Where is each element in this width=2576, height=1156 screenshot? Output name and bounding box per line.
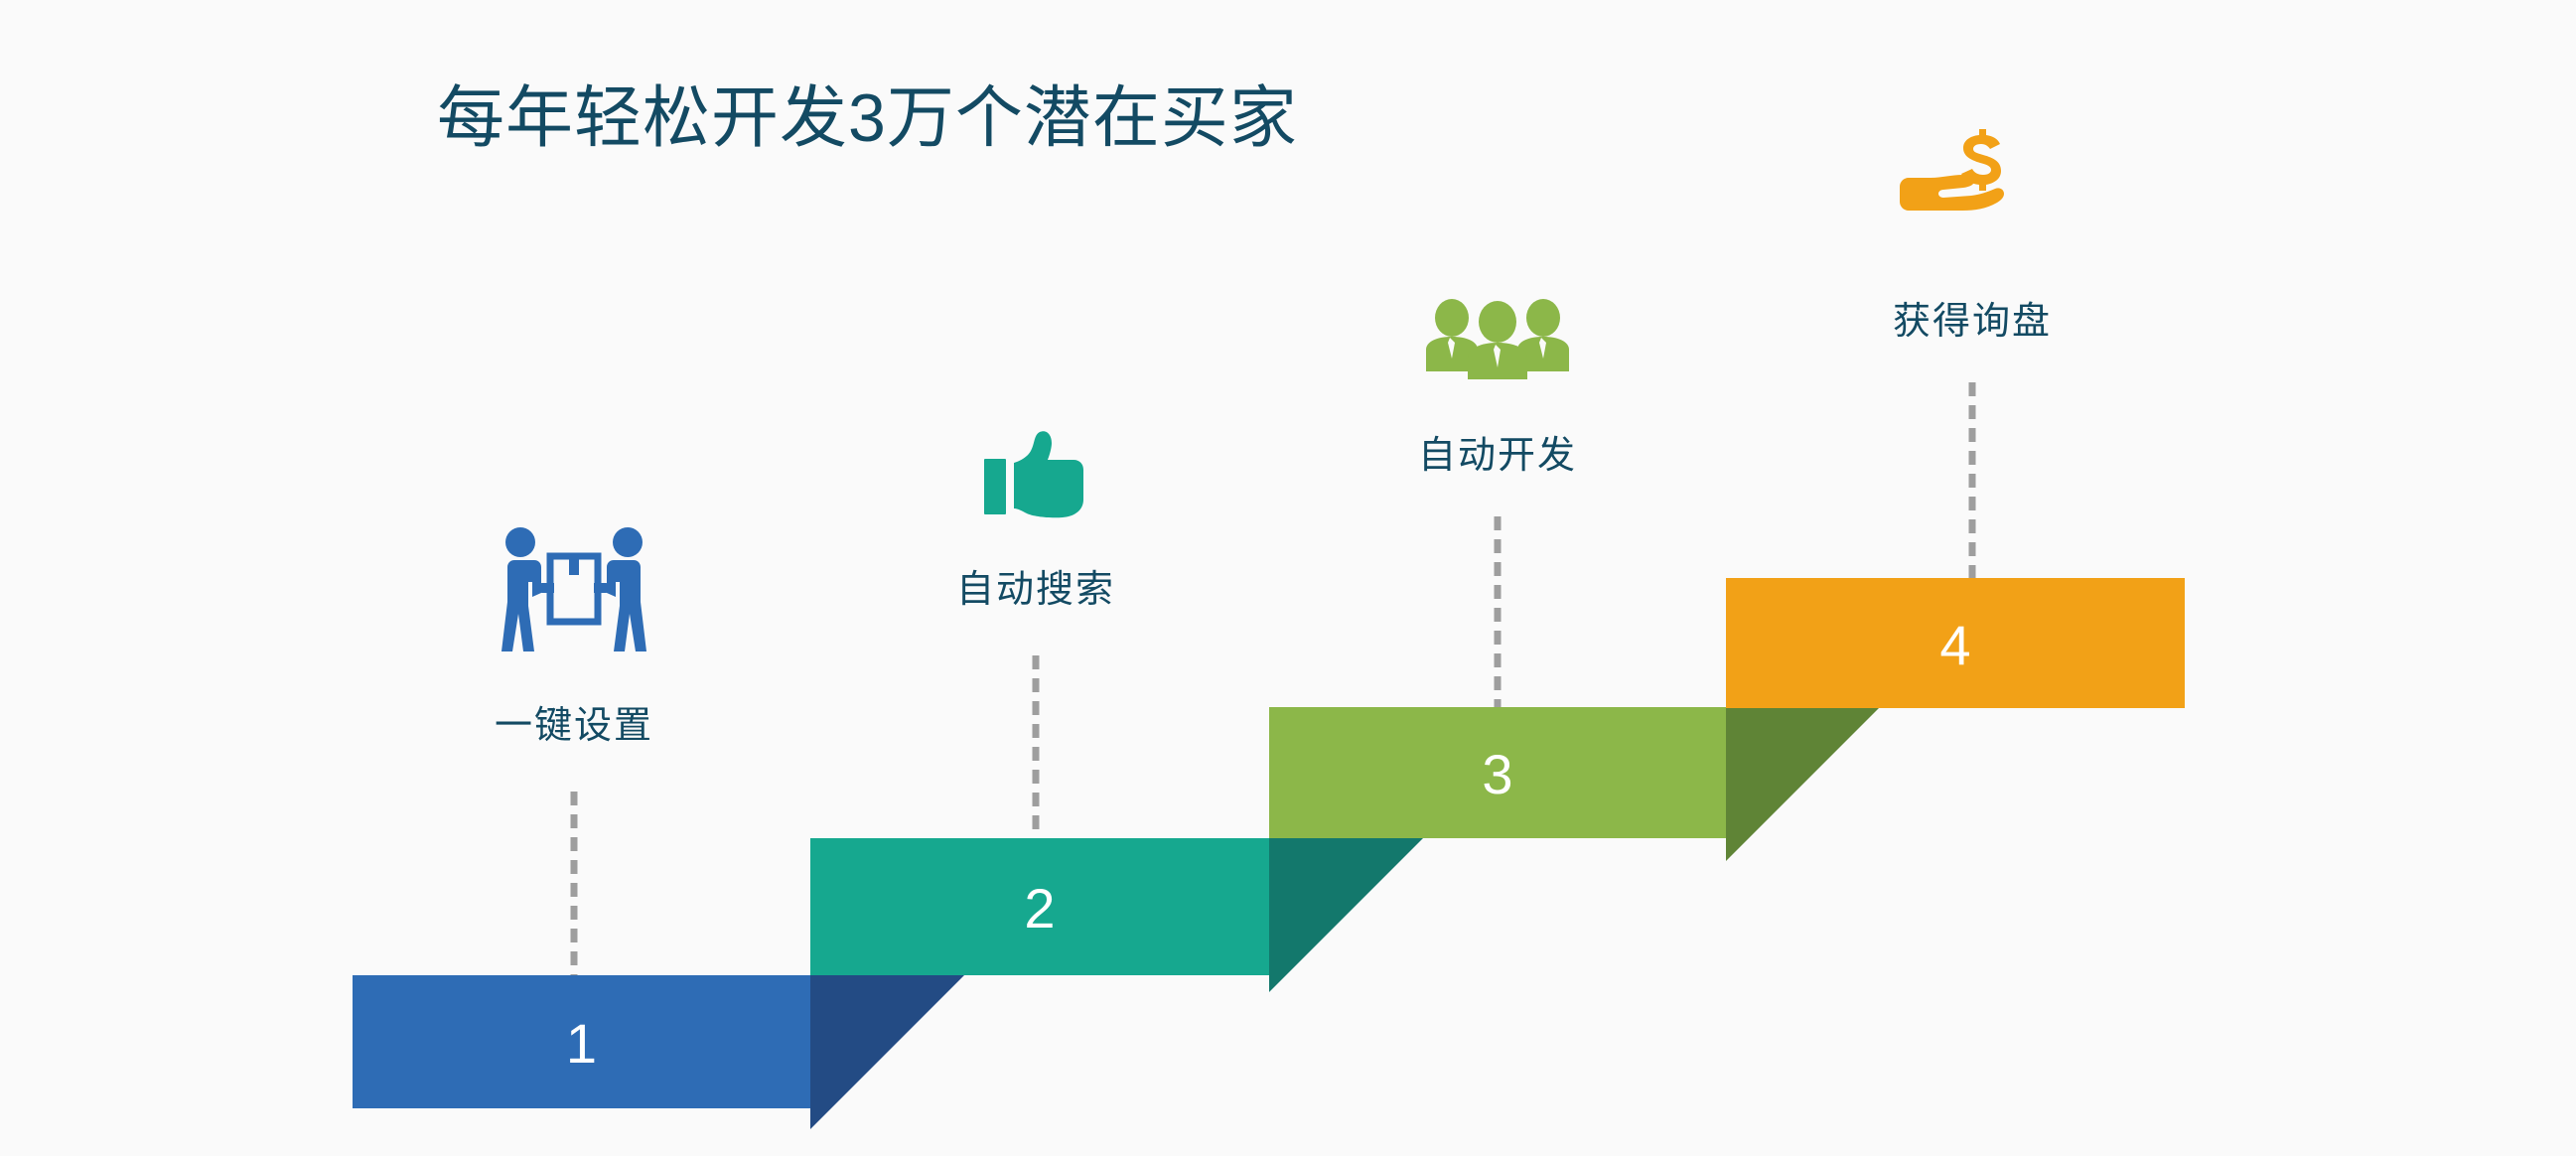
stairs-diagram: [0, 0, 2576, 1156]
three-people-group-icon: [1422, 298, 1573, 379]
step-connector-3: [1495, 516, 1502, 707]
step-ramp-2: [1269, 838, 1423, 992]
step-block-3[interactable]: [1269, 707, 1726, 838]
step-block-1[interactable]: [353, 975, 810, 1108]
hand-with-dollar-icon: [1898, 127, 2047, 211]
two-people-carrying-box-icon: [485, 526, 663, 653]
infographic-canvas: 每年轻松开发3万个潜在买家 1一键设置 2自动搜索 3自动开发: [0, 0, 2576, 1156]
step-block-2[interactable]: [810, 838, 1269, 975]
step-caption-1: 一键设置: [495, 707, 653, 745]
step-connector-4: [1969, 382, 1976, 578]
step-ramp-3: [1726, 707, 1880, 861]
thumbs-up-icon: [984, 429, 1087, 520]
step-connector-1: [571, 792, 578, 975]
step-connector-2: [1033, 655, 1040, 838]
step-ramp-1: [810, 975, 964, 1129]
step-caption-4: 获得询盘: [1893, 303, 2052, 341]
step-block-4[interactable]: [1726, 578, 2185, 708]
step-caption-3: 自动开发: [1418, 437, 1577, 475]
step-caption-2: 自动搜索: [956, 571, 1115, 609]
